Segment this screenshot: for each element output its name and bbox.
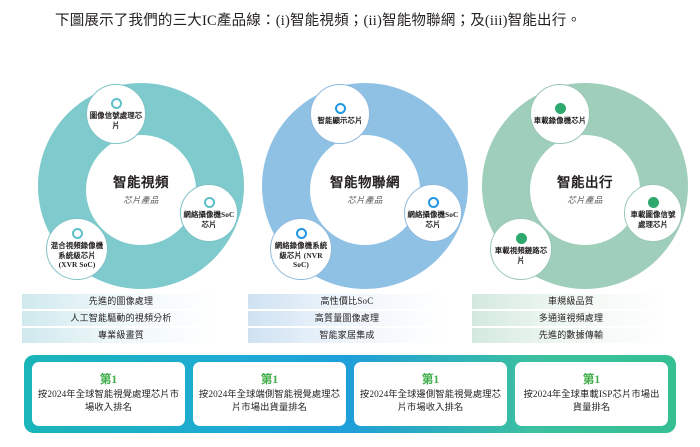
bubble-top-smart-iot: 智能顯示芯片 — [310, 84, 370, 144]
ranking-description: 按2024年全球智能視覺處理芯片市場收入排名 — [36, 389, 181, 415]
feature-bars-smart-video: 先進的圖像處理 人工智能驅動的視頻分析 專業級畫質 — [22, 294, 220, 346]
feature-bar: 高質量圖像處理 — [248, 311, 446, 326]
bubble-label: 圖像信號處理芯片 — [87, 111, 145, 130]
bubble-label: 網絡錄像機系統級芯片 (NVR SoC) — [271, 241, 331, 269]
bullet-dot-icon — [296, 228, 307, 239]
ranking-number: 第1 — [583, 373, 600, 388]
feature-bar: 先進的數據傳輸 — [472, 328, 670, 343]
bubble-label: 車載圖像信號處理芯片 — [625, 210, 681, 229]
ranking-number: 第1 — [100, 373, 117, 388]
bubble-label: 網絡攝像機SoC芯片 — [405, 210, 461, 229]
bubble-top-smart-video: 圖像信號處理芯片 — [86, 84, 146, 144]
center-subtitle: 芯片產品 — [567, 194, 603, 206]
feature-bar: 多通道視頻處理 — [472, 311, 670, 326]
bullet-dot-icon — [516, 233, 527, 244]
bubble-right-smart-mobility: 車載圖像信號處理芯片 — [624, 184, 682, 242]
feature-bars-smart-mobility: 車規級品質 多通道視頻處理 先進的數據傳輸 — [472, 294, 670, 346]
bullet-dot-icon — [648, 197, 659, 208]
bubble-label: 網絡攝像機SoC芯片 — [181, 210, 237, 229]
ranking-card: 第1 按2024年全球車載ISP芯片市場出貨量排名 — [515, 362, 668, 426]
feature-bar: 先進的圖像處理 — [22, 294, 220, 309]
bubble-top-smart-mobility: 車載錄像機芯片 — [530, 84, 590, 144]
ranking-card: 第1 按2024年全球邊側智能視覺處理芯片市場收入排名 — [354, 362, 507, 426]
center-label-smart-iot: 智能物聯網 芯片產品 — [310, 135, 420, 245]
center-subtitle: 芯片產品 — [347, 194, 383, 206]
ranking-description: 按2024年全球端側智能視覺處理芯片市場出貨量排名 — [197, 389, 342, 415]
bubble-label: 車載視頻鏈路芯片 — [491, 246, 551, 265]
center-title: 智能物聯網 — [330, 175, 400, 191]
feature-bar: 智能家居集成 — [248, 328, 446, 343]
bullet-dot-icon — [555, 103, 566, 114]
ranking-description: 按2024年全球車載ISP芯片市場出貨量排名 — [519, 389, 664, 415]
feature-bar: 高性價比SoC — [248, 294, 446, 309]
bullet-dot-icon — [428, 197, 439, 208]
center-label-smart-video: 智能視頻 芯片產品 — [86, 135, 196, 245]
bullet-dot-icon — [111, 98, 122, 109]
intro-paragraph: 下圖展示了我們的三大IC產品線：(i)智能視頻；(ii)智能物聯網；及(iii)… — [26, 8, 676, 34]
bubble-label: 車載錄像機芯片 — [532, 116, 588, 125]
center-title: 智能視頻 — [113, 175, 169, 191]
center-label-smart-mobility: 智能出行 芯片產品 — [530, 135, 640, 245]
ranking-number: 第1 — [422, 373, 439, 388]
center-subtitle: 芯片產品 — [123, 194, 159, 206]
bullet-dot-icon — [72, 228, 83, 239]
bullet-dot-icon — [204, 197, 215, 208]
bubble-label: 智能顯示芯片 — [316, 116, 365, 125]
bullet-dot-icon — [335, 103, 346, 114]
bubble-left-smart-mobility: 車載視頻鏈路芯片 — [490, 218, 552, 280]
feature-bars-smart-iot: 高性價比SoC 高質量圖像處理 智能家居集成 — [248, 294, 446, 346]
feature-bar: 人工智能驅動的視頻分析 — [22, 311, 220, 326]
feature-bar: 專業級畫質 — [22, 328, 220, 343]
product-line-diagram: 智能視頻 芯片產品 圖像信號處理芯片 網絡攝像機SoC芯片 混合視頻錄像機系統級… — [0, 80, 700, 348]
bubble-right-smart-video: 網絡攝像機SoC芯片 — [180, 184, 238, 242]
ranking-number: 第1 — [261, 373, 278, 388]
bubble-label: 混合視頻錄像機系統級芯片 (XVR SoC) — [47, 241, 107, 269]
center-title: 智能出行 — [557, 175, 613, 191]
bubble-left-smart-iot: 網絡錄像機系統級芯片 (NVR SoC) — [270, 218, 332, 280]
ranking-card: 第1 按2024年全球端側智能視覺處理芯片市場出貨量排名 — [193, 362, 346, 426]
bubble-right-smart-iot: 網絡攝像機SoC芯片 — [404, 184, 462, 242]
ranking-description: 按2024年全球邊側智能視覺處理芯片市場收入排名 — [358, 389, 503, 415]
ranking-card: 第1 按2024年全球智能視覺處理芯片市場收入排名 — [32, 362, 185, 426]
feature-bar: 車規級品質 — [472, 294, 670, 309]
ranking-strip: 第1 按2024年全球智能視覺處理芯片市場收入排名 第1 按2024年全球端側智… — [24, 355, 676, 433]
bubble-left-smart-video: 混合視頻錄像機系統級芯片 (XVR SoC) — [46, 218, 108, 280]
